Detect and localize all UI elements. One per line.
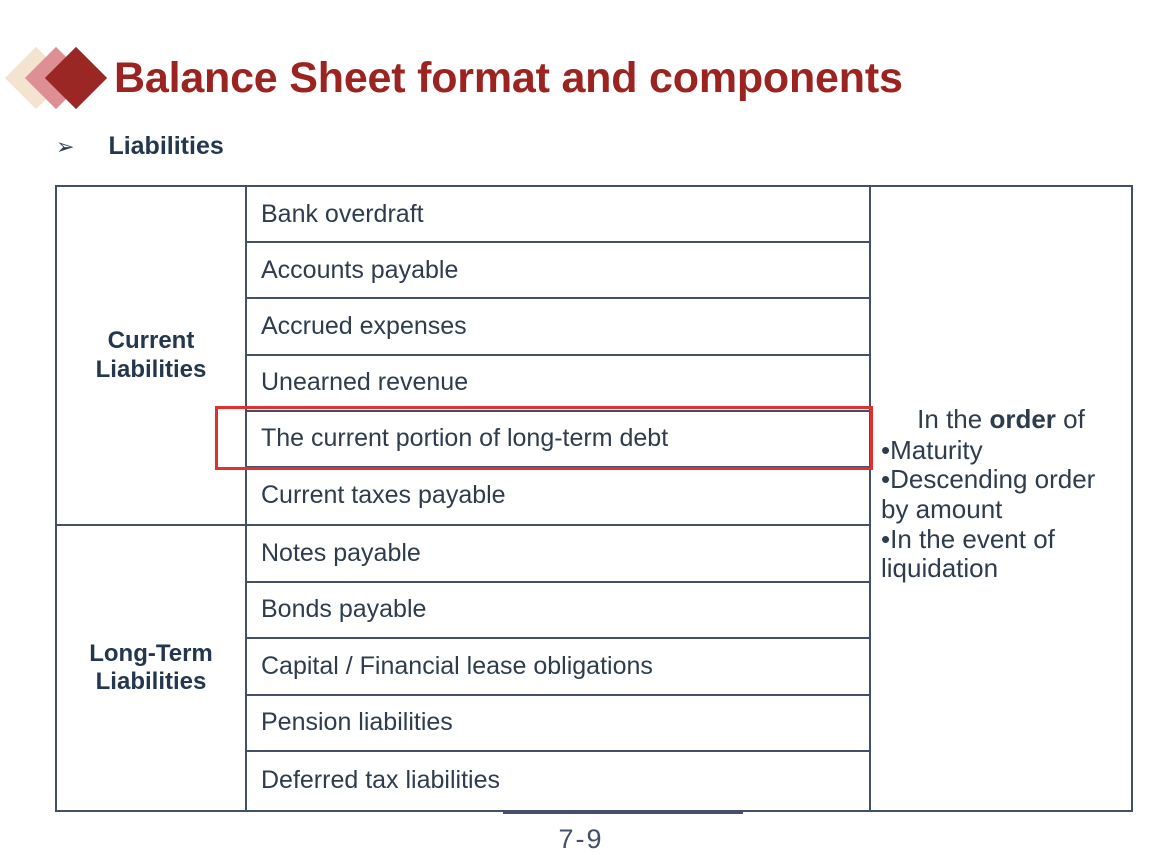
table-group-label-column: Current Liabilities Long-Term Liabilitie… [57, 187, 247, 810]
group-label-current-liabilities: Current Liabilities [57, 187, 245, 526]
table-row: Accrued expenses [247, 299, 869, 355]
table-row: Current taxes payable [247, 468, 869, 524]
ordering-note: In the order of •Maturity •Descending or… [881, 405, 1125, 584]
ordering-note-bullet: •Descending order by amount [881, 465, 1125, 524]
group-label-long-line1: Long-Term [89, 640, 213, 667]
table-row: Bonds payable [247, 583, 869, 640]
ordering-note-bullet: •In the event of liquidation [881, 525, 1125, 584]
items-group-long-term-liabilities: Notes payable Bonds payable Capital / Fi… [247, 526, 869, 810]
table-note-column: In the order of •Maturity •Descending or… [871, 187, 1131, 810]
group-label-current-line1: Current [108, 327, 195, 354]
page-number: 7-9 [0, 824, 1162, 855]
table-items-column: Bank overdraft Accounts payable Accrued … [247, 187, 871, 810]
ordering-note-lead-suffix: of [1056, 404, 1085, 434]
slide-canvas: Balance Sheet format and components ➢ Li… [0, 0, 1162, 841]
ordering-note-lead-prefix: In the [917, 404, 989, 434]
arrow-bullet-icon: ➢ [56, 136, 74, 158]
ordering-note-lead: In the order of [881, 405, 1125, 435]
liabilities-table: Current Liabilities Long-Term Liabilitie… [55, 185, 1133, 812]
diamond-decoration-icon [14, 41, 108, 115]
table-row-highlighted: The current portion of long-term debt [247, 412, 869, 468]
table-row: Pension liabilities [247, 696, 869, 753]
group-label-current-line2: Liabilities [96, 356, 207, 383]
table-row: Unearned revenue [247, 356, 869, 412]
table-row: Bank overdraft [247, 187, 869, 243]
ordering-note-bullet: •Maturity [881, 436, 1125, 466]
table-row: Accounts payable [247, 243, 869, 299]
table-row: Capital / Financial lease obligations [247, 639, 869, 696]
section-heading-label: Liabilities [108, 132, 223, 161]
page-title: Balance Sheet format and components [114, 54, 903, 103]
slide-title-row: Balance Sheet format and components [0, 38, 903, 118]
section-heading: ➢ Liabilities [56, 132, 224, 161]
group-label-long-term-liabilities: Long-Term Liabilities [57, 526, 245, 810]
table-row: Deferred tax liabilities [247, 752, 869, 809]
table-row: Notes payable [247, 526, 869, 583]
group-label-long-line2: Liabilities [96, 668, 207, 695]
items-group-current-liabilities: Bank overdraft Accounts payable Accrued … [247, 187, 869, 526]
footer-divider [503, 812, 743, 814]
ordering-note-lead-emphasis: order [989, 404, 1055, 434]
